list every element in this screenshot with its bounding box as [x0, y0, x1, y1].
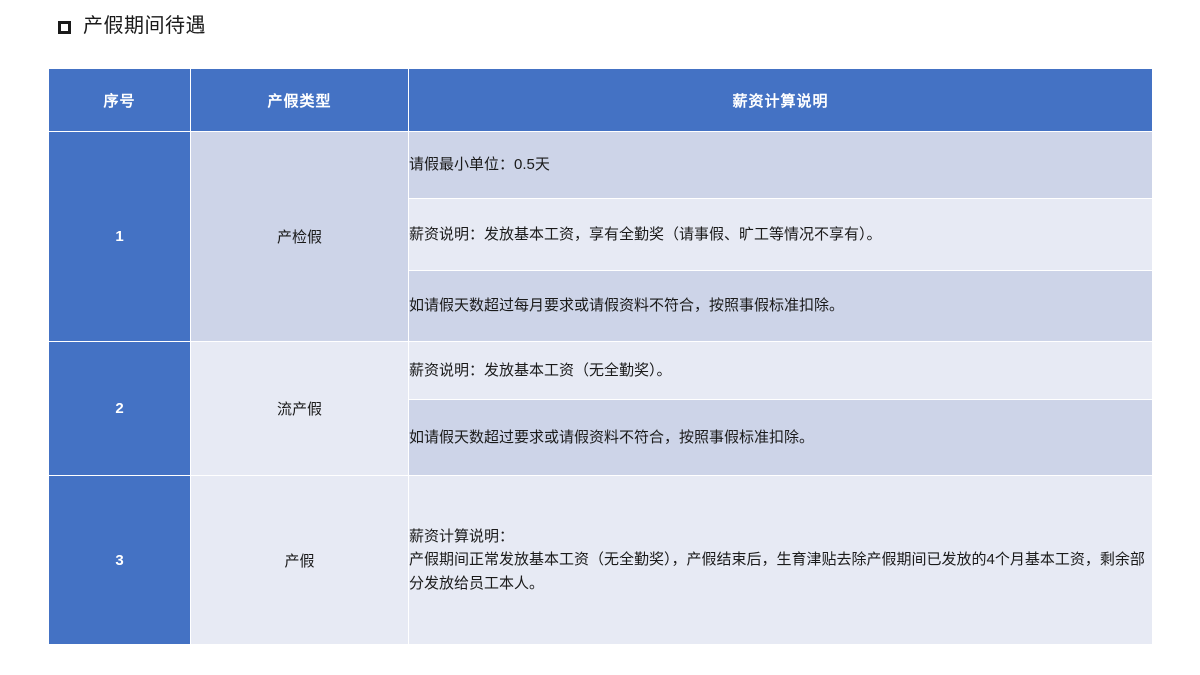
row-description-line: 如请假天数超过每月要求或请假资料不符合，按照事假标准扣除。 [409, 271, 1153, 342]
maternity-leave-table-container: 序号 产假类型 薪资计算说明 1 产检假 请假最小单位：0.5天 薪资说明：发放… [48, 68, 1152, 645]
column-header-index: 序号 [49, 69, 191, 132]
row-leave-type-cell: 产假 [191, 476, 409, 645]
maternity-leave-table: 序号 产假类型 薪资计算说明 1 产检假 请假最小单位：0.5天 薪资说明：发放… [48, 68, 1153, 645]
page-title-text: 产假期间待遇 [83, 14, 206, 38]
slide-canvas: 产假期间待遇 序号 产假类型 薪资计算说明 1 产检假 [0, 0, 1200, 675]
column-header-leave-type: 产假类型 [191, 69, 409, 132]
page-title: 产假期间待遇 [58, 14, 206, 38]
row-index-cell: 2 [49, 342, 191, 476]
row-description-block: 薪资计算说明： 产假期间正常发放基本工资（无全勤奖），产假结束后，生育津贴去除产… [409, 476, 1153, 645]
row-description-line: 薪资说明：发放基本工资（无全勤奖）。 [409, 342, 1153, 400]
column-header-salary-description: 薪资计算说明 [409, 69, 1153, 132]
row-index-cell: 3 [49, 476, 191, 645]
table-header-row: 序号 产假类型 薪资计算说明 [49, 69, 1153, 132]
table-row: 3 产假 薪资计算说明： 产假期间正常发放基本工资（无全勤奖），产假结束后，生育… [49, 476, 1153, 645]
table-row: 1 产检假 请假最小单位：0.5天 [49, 132, 1153, 199]
table-body: 1 产检假 请假最小单位：0.5天 薪资说明：发放基本工资，享有全勤奖（请事假、… [49, 132, 1153, 645]
row-description-line: 如请假天数超过要求或请假资料不符合，按照事假标准扣除。 [409, 400, 1153, 476]
table-row: 2 流产假 薪资说明：发放基本工资（无全勤奖）。 [49, 342, 1153, 400]
row-description-line: 请假最小单位：0.5天 [409, 132, 1153, 199]
table-header: 序号 产假类型 薪资计算说明 [49, 69, 1153, 132]
row-description-text: 薪资计算说明： 产假期间正常发放基本工资（无全勤奖），产假结束后，生育津贴去除产… [409, 525, 1152, 595]
row-index-cell: 1 [49, 132, 191, 342]
row-description-line: 薪资说明：发放基本工资，享有全勤奖（请事假、旷工等情况不享有）。 [409, 199, 1153, 271]
row-leave-type-cell: 流产假 [191, 342, 409, 476]
row-leave-type-cell: 产检假 [191, 132, 409, 342]
square-bullet-icon [58, 21, 71, 34]
